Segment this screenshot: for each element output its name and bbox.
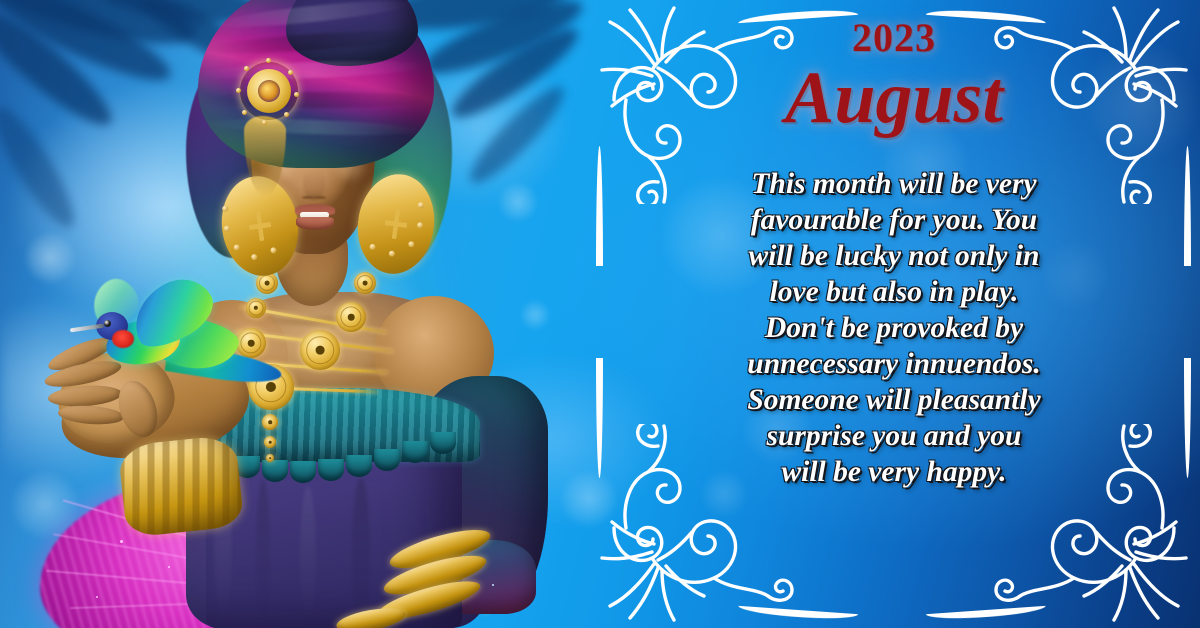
earring-bead	[224, 225, 231, 232]
horoscope-line: unnecessary innuendos.	[747, 348, 1040, 380]
horoscope-line: Someone will pleasantly	[747, 384, 1040, 416]
necklace-disc	[236, 328, 266, 358]
sparkle	[168, 566, 170, 568]
earring-motif	[247, 210, 273, 243]
necklace-disc	[300, 330, 340, 370]
lace-scallop	[430, 432, 456, 454]
horoscope-line: Don't be provoked by	[765, 312, 1023, 344]
necklace-disc	[354, 272, 376, 294]
earring-bead	[388, 250, 395, 257]
headwrap-fold	[200, 92, 428, 108]
earring-bead	[270, 247, 277, 254]
chin-shadow	[294, 232, 336, 246]
necklace-disc	[336, 302, 366, 332]
brooch-bead	[294, 92, 299, 97]
brooch-gem	[258, 80, 280, 102]
necklace-drop	[264, 436, 276, 448]
brooch-bead	[262, 120, 267, 125]
horoscope-panel: 2023 August This month will be veryfavou…	[588, 0, 1200, 628]
horoscope-card: 2023 August This month will be veryfavou…	[0, 0, 1200, 628]
necklace-disc	[246, 298, 266, 318]
horoscope-line: surprise you and you	[767, 420, 1022, 452]
hummingbird-eye	[104, 320, 111, 327]
gold-arm-cuff	[118, 434, 245, 538]
lace-scallop	[402, 441, 428, 463]
sparkle	[120, 540, 123, 543]
fortune-teller-illustration	[0, 0, 620, 628]
brooch-bead	[244, 66, 249, 71]
horoscope-text: This month will be veryfavourable for yo…	[660, 166, 1128, 490]
lace-scallop	[346, 455, 372, 477]
lace-scallop	[318, 459, 344, 481]
earring-motif	[383, 208, 409, 241]
brooch-bead	[236, 88, 241, 93]
earring-bead	[222, 205, 229, 212]
earring-bead	[233, 244, 240, 251]
sparkle	[492, 584, 494, 586]
horoscope-line: favourable for you. You	[751, 204, 1037, 236]
nostrils	[302, 194, 326, 201]
brooch-bead	[242, 110, 247, 115]
hummingbird-throat	[112, 330, 134, 348]
horoscope-line: This month will be very	[751, 168, 1036, 200]
necklace-drop	[262, 414, 278, 430]
earring-bead	[408, 241, 415, 248]
lace-scallop	[290, 461, 316, 483]
earring-bead	[417, 222, 424, 229]
brooch-bead	[266, 58, 271, 63]
earring-bead	[369, 244, 376, 251]
horoscope-line: will be very happy.	[781, 456, 1006, 488]
sparkle	[96, 596, 98, 598]
fabric-fold	[300, 486, 316, 626]
month-title: August	[588, 56, 1200, 141]
horoscope-line: will be lucky not only in	[749, 240, 1040, 272]
horoscope-line: love but also in play.	[770, 276, 1019, 308]
fabric-fold	[352, 478, 370, 628]
brooch-bead	[284, 112, 289, 117]
lace-scallop	[262, 460, 288, 482]
necklace-drop	[266, 454, 274, 462]
year-label: 2023	[588, 14, 1200, 61]
earring-bead	[251, 254, 258, 261]
brooch-bead	[288, 70, 293, 75]
lower-lip	[296, 217, 334, 230]
lace-scallop	[374, 449, 400, 471]
earring-bead	[417, 202, 424, 209]
fabric-fold	[256, 480, 270, 620]
